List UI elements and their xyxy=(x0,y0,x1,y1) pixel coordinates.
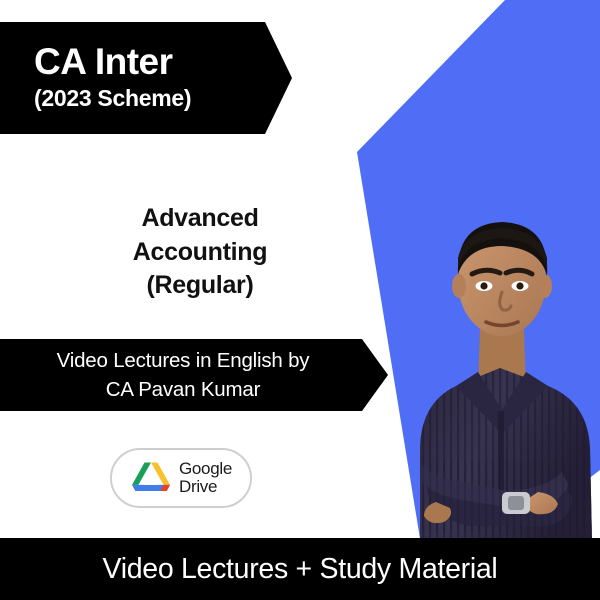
instructor-banner-line-2: CA Pavan Kumar xyxy=(2,375,364,404)
header-banner: CA Inter (2023 Scheme) xyxy=(0,22,292,134)
course-title-line-2: Accounting xyxy=(40,236,360,270)
instructor-banner-line-1: Video Lectures in English by xyxy=(2,346,364,375)
footer-bar: Video Lectures + Study Material xyxy=(0,538,600,600)
course-title: Advanced Accounting (Regular) xyxy=(40,202,360,303)
instructor-photo xyxy=(352,196,600,540)
exam-level-title: CA Inter xyxy=(34,43,191,81)
course-title-line-3: (Regular) xyxy=(40,269,360,303)
google-drive-icon xyxy=(130,459,172,497)
google-drive-brand-line-1: Google xyxy=(179,460,232,478)
instructor-banner: Video Lectures in English by CA Pavan Ku… xyxy=(0,339,388,411)
google-drive-badge[interactable]: Google Drive xyxy=(110,448,252,508)
course-poster: CA Inter (2023 Scheme) Advanced Accounti… xyxy=(0,0,600,600)
course-title-line-1: Advanced xyxy=(40,202,360,236)
google-drive-brand-line-2: Drive xyxy=(179,478,232,496)
exam-scheme-subtitle: (2023 Scheme) xyxy=(34,84,191,113)
footer-bar-text: Video Lectures + Study Material xyxy=(103,553,498,586)
